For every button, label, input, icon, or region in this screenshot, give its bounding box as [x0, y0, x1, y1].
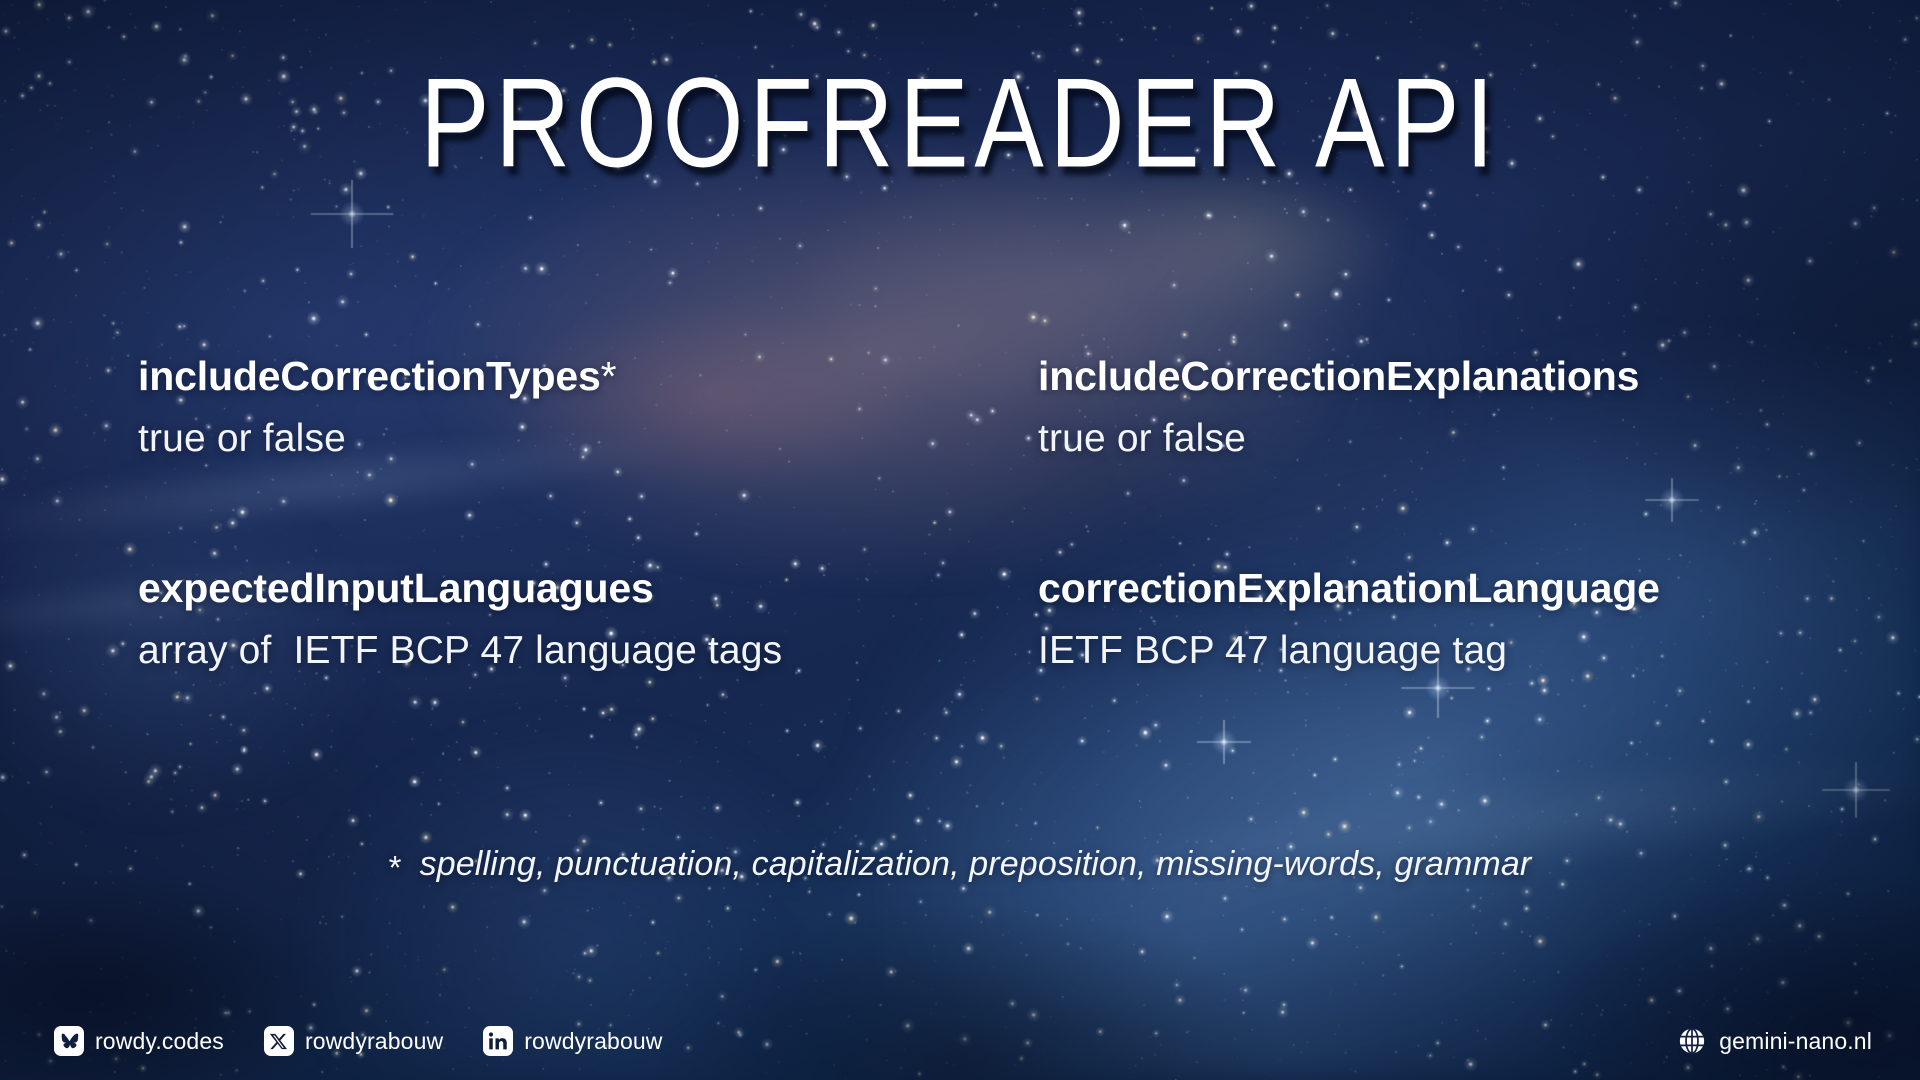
social-label: rowdyrabouw — [524, 1028, 662, 1055]
parameter-name-text: correctionExplanationLanguage — [1038, 565, 1660, 611]
parameter-name-text: includeCorrectionExplanations — [1038, 353, 1639, 399]
website-label: gemini-nano.nl — [1719, 1028, 1872, 1055]
parameter-item: includeCorrectionTypes* true or false — [138, 356, 1038, 458]
slide-root: PROOFREADER API includeCorrectionTypes* … — [0, 0, 1920, 1080]
parameter-name-text: expectedInputLanguagues — [138, 565, 654, 611]
parameter-name: expectedInputLanguagues — [138, 568, 1038, 609]
social-link-x[interactable]: rowdyrabouw — [264, 1026, 443, 1056]
parameter-name: includeCorrectionTypes* — [138, 356, 1038, 397]
title-container: PROOFREADER API — [0, 52, 1920, 171]
parameter-item: expectedInputLanguagues array of IETF BC… — [138, 568, 1038, 670]
social-link-linkedin[interactable]: rowdyrabouw — [483, 1026, 662, 1056]
linkedin-icon — [483, 1026, 513, 1056]
footnote-text: spelling, punctuation, capitalization, p… — [420, 845, 1532, 883]
bluesky-butterfly-icon — [54, 1026, 84, 1056]
parameter-item: correctionExplanationLanguage IETF BCP 4… — [1038, 568, 1838, 670]
footer-website-link[interactable]: gemini-nano.nl — [1677, 1026, 1872, 1056]
social-label: rowdy.codes — [95, 1028, 224, 1055]
parameter-value: true or false — [1038, 419, 1838, 458]
footer-social-links: rowdy.codes rowdyrabouw rowdyrabouw — [54, 1026, 663, 1056]
footnote: *spelling, punctuation, capitalization, … — [0, 845, 1920, 884]
parameter-name: correctionExplanationLanguage — [1038, 568, 1838, 609]
parameter-item: includeCorrectionExplanations true or fa… — [1038, 356, 1838, 458]
social-label: rowdyrabouw — [305, 1028, 443, 1055]
parameter-name: includeCorrectionExplanations — [1038, 356, 1838, 397]
required-asterisk: * — [601, 353, 617, 399]
page-title: PROOFREADER API — [420, 52, 1500, 197]
parameter-value: IETF BCP 47 language tag — [1038, 631, 1838, 670]
parameter-value: array of IETF BCP 47 language tags — [138, 631, 1038, 670]
social-link-bluesky[interactable]: rowdy.codes — [54, 1026, 224, 1056]
parameter-value: true or false — [138, 419, 1038, 458]
footnote-asterisk: * — [389, 849, 402, 886]
x-logo-icon — [264, 1026, 294, 1056]
globe-icon — [1677, 1026, 1707, 1056]
parameter-grid: includeCorrectionTypes* true or false in… — [138, 356, 1838, 670]
parameter-name-text: includeCorrectionTypes — [138, 353, 601, 399]
